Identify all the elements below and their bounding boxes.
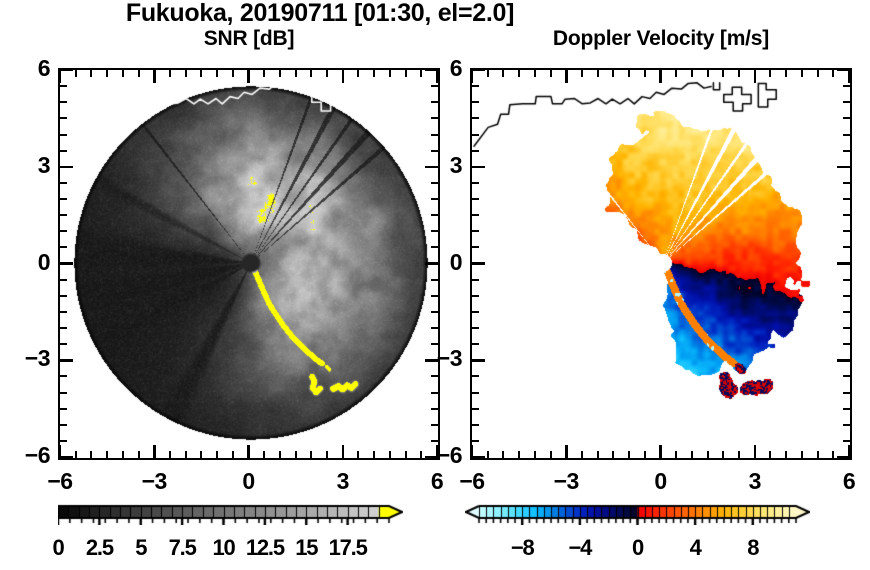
snr-ytick-label: 3 — [0, 152, 50, 179]
page-title: Fukuoka, 20190711 [01:30, el=2.0] — [0, 0, 640, 28]
doppler-colorbar-tick-label: 4 — [665, 535, 725, 561]
doppler-radar-canvas — [472, 70, 849, 457]
snr-colorbar — [58, 503, 403, 525]
snr-colorbar-tick-label: 17.5 — [318, 535, 378, 561]
doppler-xtick-label: 0 — [631, 468, 691, 495]
doppler-ytick-label: −6 — [412, 442, 462, 469]
doppler-colorbar — [465, 503, 810, 525]
doppler-xtick-label: 6 — [819, 468, 870, 495]
radar-figure: Fukuoka, 20190711 [01:30, el=2.0] SNR [d… — [0, 0, 870, 570]
doppler-colorbar-tick-label: −8 — [492, 535, 552, 561]
snr-ytick-label: −3 — [0, 345, 50, 372]
doppler-ytick-label: −3 — [412, 345, 462, 372]
doppler-colorbar-tick-label: 0 — [608, 535, 668, 561]
doppler-colorbar-canvas — [465, 503, 810, 525]
doppler-xtick-label: 3 — [725, 468, 785, 495]
doppler-xtick-label: −3 — [536, 468, 596, 495]
snr-ytick-label: −6 — [0, 442, 50, 469]
doppler-xtick-label: −6 — [442, 468, 502, 495]
doppler-colorbar-tick-label: 8 — [723, 535, 783, 561]
doppler-colorbar-tick-label: −4 — [550, 535, 610, 561]
snr-ytick-label: 6 — [0, 55, 50, 82]
doppler-ytick-label: 0 — [412, 249, 462, 276]
doppler-ytick-label: 6 — [412, 55, 462, 82]
snr-xtick-label: −6 — [30, 468, 90, 495]
snr-plot-panel — [58, 68, 440, 460]
right-panel-title: Doppler Velocity [m/s] — [470, 27, 852, 51]
doppler-ytick-label: 3 — [412, 152, 462, 179]
snr-colorbar-canvas — [58, 503, 403, 525]
left-panel-title: SNR [dB] — [58, 27, 440, 51]
snr-xtick-label: −3 — [124, 468, 184, 495]
snr-xtick-label: 0 — [219, 468, 279, 495]
snr-ytick-label: 0 — [0, 249, 50, 276]
doppler-plot-panel — [470, 68, 852, 460]
snr-xtick-label: 3 — [313, 468, 373, 495]
snr-radar-canvas — [60, 70, 437, 457]
